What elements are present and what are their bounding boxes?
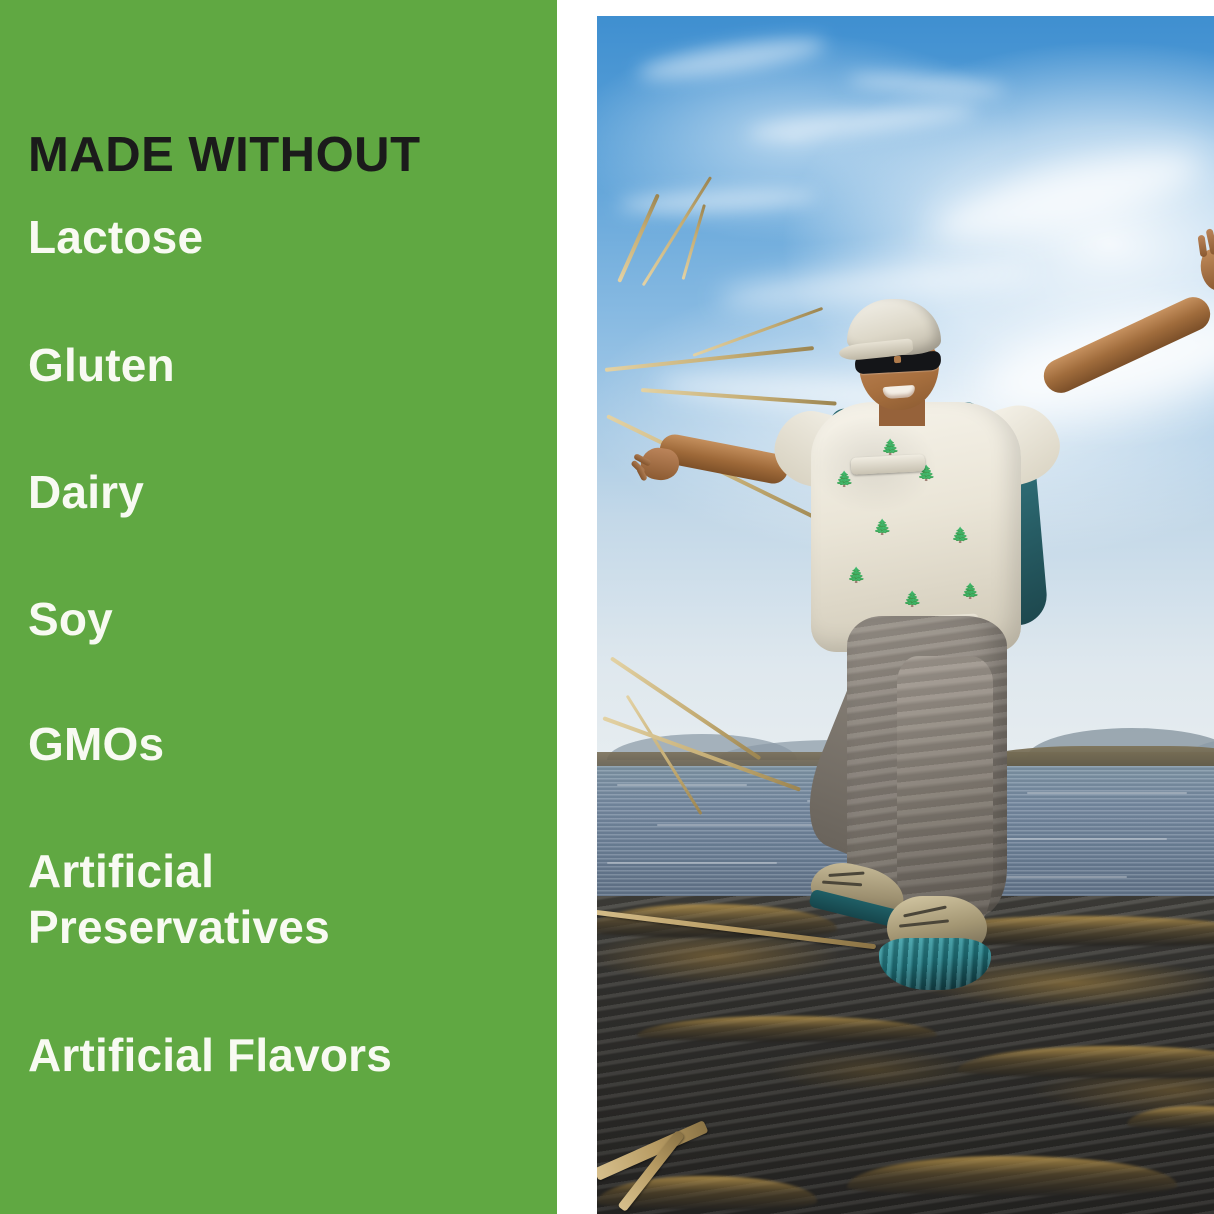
cloud-wisp xyxy=(636,31,828,86)
list-item: Artificial Flavors xyxy=(28,1027,392,1083)
list-item: Dairy xyxy=(28,464,144,520)
list-item: Artificial Preservatives xyxy=(28,843,330,955)
cloud-wisp xyxy=(746,99,977,145)
product-feature-graphic: MADE WITHOUT Lactose Gluten Dairy Soy GM… xyxy=(0,0,1214,1214)
list-item: Lactose xyxy=(28,209,203,265)
lifestyle-photo: 🌲 🌲 🌲 🌲 🌲 🌲 🌲 🌲 xyxy=(597,16,1214,1214)
front-leg xyxy=(897,656,993,924)
sunglasses-bridge xyxy=(894,356,901,363)
page-title: MADE WITHOUT xyxy=(28,127,421,183)
cloud-wisp xyxy=(847,70,1008,99)
list-item: Gluten xyxy=(28,337,175,393)
list-item: GMOs xyxy=(28,716,164,772)
t-shirt: 🌲 🌲 🌲 🌲 🌲 🌲 🌲 🌲 xyxy=(811,402,1021,652)
cloud-wisp xyxy=(924,133,1210,259)
list-item: Soy xyxy=(28,591,113,647)
made-without-panel: MADE WITHOUT Lactose Gluten Dairy Soy GM… xyxy=(0,0,557,1214)
